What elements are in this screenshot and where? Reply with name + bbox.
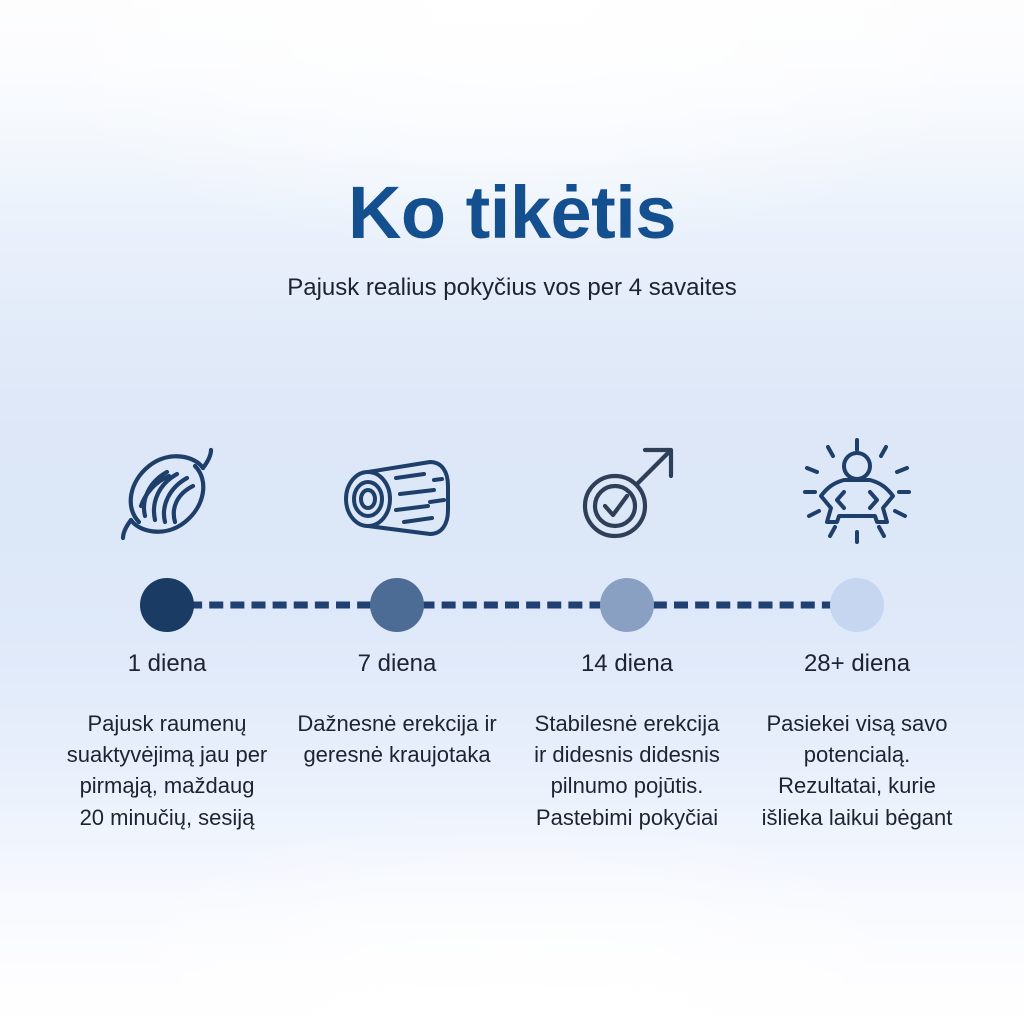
timeline-description-4: Pasiekei visą savo potencialą. Rezultata… [742,708,972,833]
timeline-dot-2[interactable] [370,578,424,632]
timeline-label-1: 1 diena [52,650,282,678]
timeline-dot-cell-3 [512,578,742,632]
male-symbol-check-icon [571,438,683,550]
timeline-icon-cell-4 [742,430,972,550]
timeline-labels: 1 diena 7 diena 14 diena 28+ diena [52,650,972,678]
timeline-description-1: Pajusk raumenų suaktyvėjimą jau per pirm… [52,708,282,833]
muscle-fiber-icon [111,438,223,550]
timeline-dot-cell-2 [282,578,512,632]
timeline-dot-1[interactable] [140,578,194,632]
confident-person-rays-icon [797,430,917,550]
wooden-log-icon [338,450,456,550]
timeline-track [52,574,972,636]
timeline-descriptions: Pajusk raumenų suaktyvėjimą jau per pirm… [52,708,972,833]
timeline-dot-cell-1 [52,578,282,632]
timeline-description-3: Stabilesnė erekcija ir didesnis didesnis… [512,708,742,833]
timeline-icon-cell-2 [282,450,512,550]
timeline: 1 diena 7 diena 14 diena 28+ diena Pajus… [52,420,972,833]
poster-content: Ko tikėtis Pajusk realius pokyčius vos p… [0,0,1024,1024]
timeline-dot-3[interactable] [600,578,654,632]
timeline-dot-cell-4 [742,578,972,632]
timeline-description-2: Dažnesnė erekcija ir geresnė kraujotaka [282,708,512,770]
timeline-label-4: 28+ diena [742,650,972,678]
page-subtitle: Pajusk realius pokyčius vos per 4 savait… [0,274,1024,303]
timeline-icon-cell-3 [512,438,742,550]
poster-canvas: Ko tikėtis Pajusk realius pokyčius vos p… [0,0,1024,1024]
header: Ko tikėtis Pajusk realius pokyčius vos p… [0,176,1024,303]
timeline-icon-row [52,420,972,550]
timeline-icon-cell-1 [52,438,282,550]
timeline-dot-4[interactable] [830,578,884,632]
timeline-dots [52,574,972,636]
page-title: Ko tikėtis [0,176,1024,250]
timeline-label-2: 7 diena [282,650,512,678]
timeline-label-3: 14 diena [512,650,742,678]
